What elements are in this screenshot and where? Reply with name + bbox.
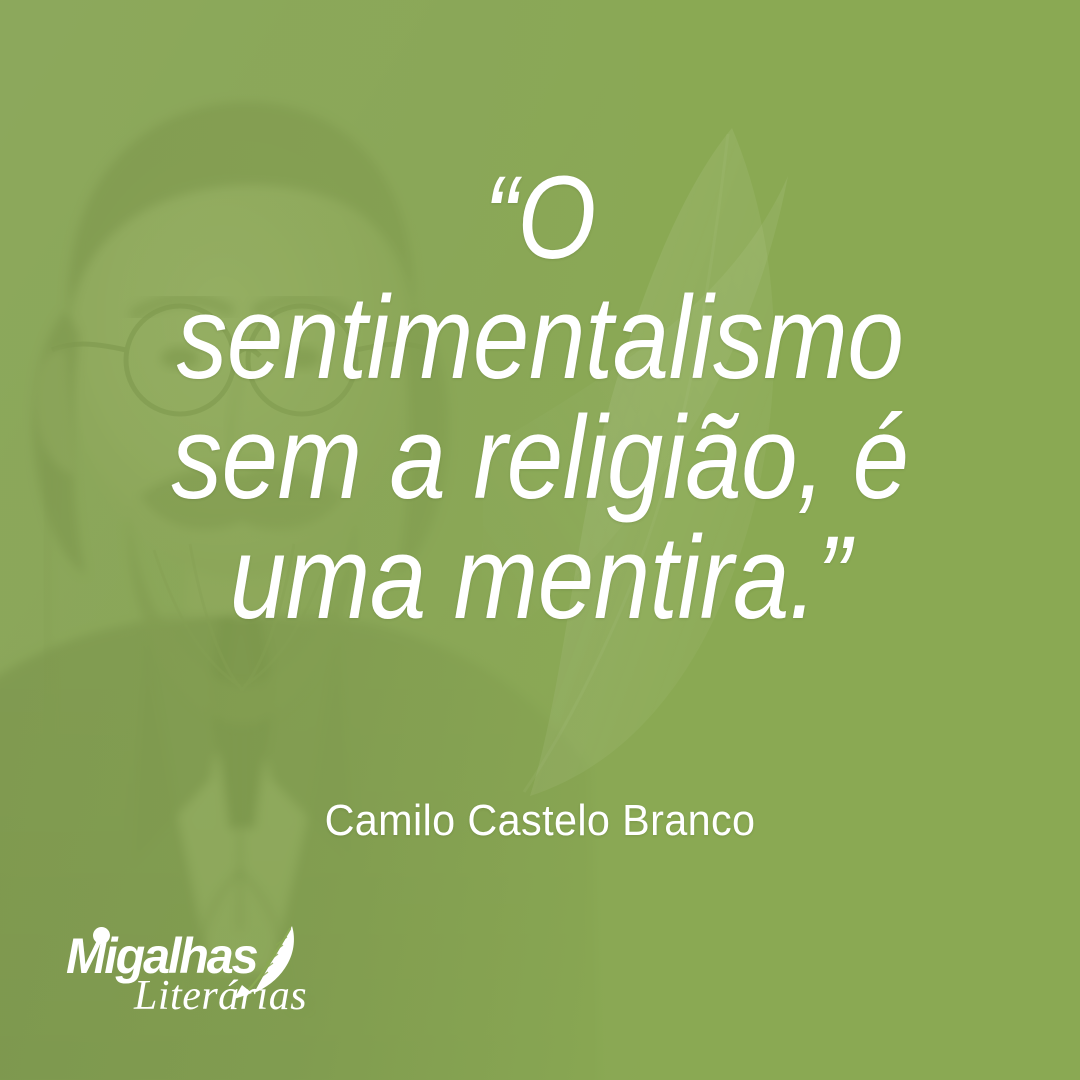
quote-line-3: sem a religião, é [76,398,1005,518]
quote-line-4: uma mentira.” [76,518,1005,638]
quote-line-1: “O [76,158,1005,278]
quote-text: “O sentimentalismo sem a religião, é uma… [0,158,1080,638]
logo-dot-icon [93,927,110,944]
quote-line-2: sentimentalismo [76,278,1005,398]
quote-card: “O sentimentalismo sem a religião, é uma… [0,0,1080,1080]
migalhas-literarias-logo[interactable]: Migalhas Literárias [62,925,322,1025]
author-name: Camilo Castelo Branco [32,795,1047,847]
logo-subtitle: Literárias [134,975,307,1017]
